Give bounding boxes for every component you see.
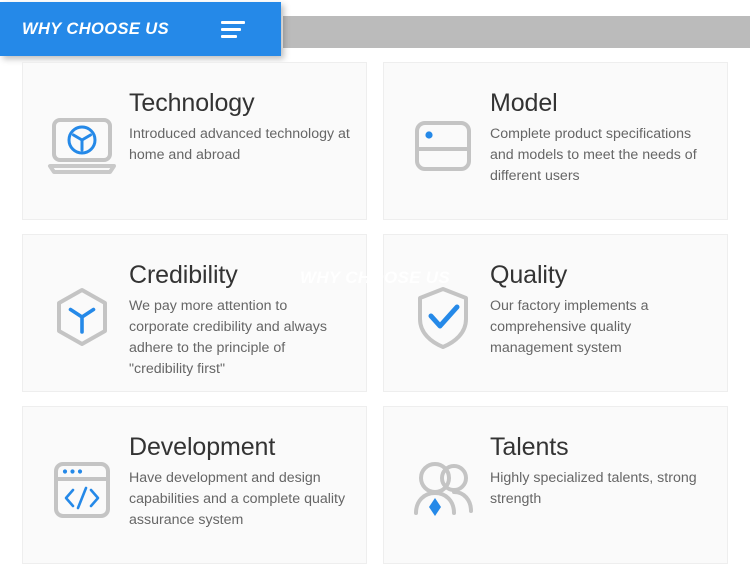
feature-card-technology[interactable]: Technology Introduced advanced technolog… [22,62,367,220]
feature-card-model[interactable]: Model Complete product specifications an… [383,62,728,220]
shield-check-icon [400,275,486,361]
card-title: Model [490,89,711,118]
page-header: WHY CHOOSE US [0,0,750,60]
card-title: Quality [490,261,711,290]
card-text-block: Technology Introduced advanced technolog… [125,85,350,166]
header-title-banner: WHY CHOOSE US [0,2,281,56]
card-description: Have development and design capabilities… [129,468,350,531]
feature-card-credibility[interactable]: Credibility We pay more attention to cor… [22,234,367,392]
feature-card-talents[interactable]: Talents Highly specialized talents, stro… [383,406,728,564]
card-title: Talents [490,433,711,462]
header-gray-bar [283,16,750,48]
menu-line-1 [221,21,245,24]
card-title: Development [129,433,350,462]
page-title: WHY CHOOSE US [22,20,169,39]
feature-card-grid: Technology Introduced advanced technolog… [22,62,728,564]
card-text-block: Quality Our factory implements a compreh… [486,257,711,359]
feature-card-quality[interactable]: Quality Our factory implements a compreh… [383,234,728,392]
hamburger-menu-icon[interactable] [221,21,245,38]
card-text-block: Credibility We pay more attention to cor… [125,257,350,380]
menu-line-2 [221,28,241,31]
card-description: We pay more attention to corporate credi… [129,296,350,380]
panel-layout-icon [400,103,486,189]
hexagon-icon [39,275,125,361]
card-text-block: Development Have development and design … [125,429,350,531]
card-description: Introduced advanced technology at home a… [129,124,350,166]
feature-card-development[interactable]: Development Have development and design … [22,406,367,564]
card-description: Our factory implements a comprehensive q… [490,296,711,359]
card-text-block: Model Complete product specifications an… [486,85,711,187]
card-description: Complete product specifications and mode… [490,124,711,187]
card-text-block: Talents Highly specialized talents, stro… [486,429,711,510]
code-window-icon [39,447,125,533]
users-icon [400,447,486,533]
card-title: Credibility [129,261,350,290]
card-title: Technology [129,89,350,118]
laptop-icon [39,103,125,189]
menu-line-3 [221,35,237,38]
card-description: Highly specialized talents, strong stren… [490,468,711,510]
